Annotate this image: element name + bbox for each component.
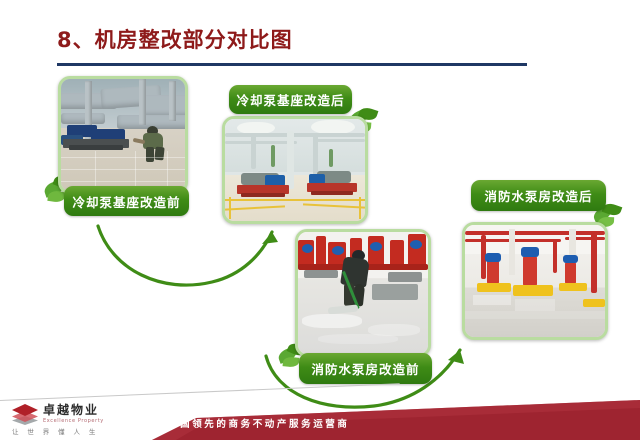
caption-after-fire-pump-room[interactable]: 消防水泵房改造后 [471,180,606,211]
photo-before-cooling-pump-base[interactable] [58,76,188,194]
photo-after-cooling-pump-base[interactable] [222,116,368,224]
page-title-text: 8、机房整改部分对比图 [57,30,293,51]
diamond-logo-icon [12,404,38,424]
photo-after-fire-pump-room[interactable] [462,222,608,340]
photo-image [61,79,185,191]
company-tagline: 让 世 界 懂 人 生 [12,426,122,436]
photo-before-fire-pump-room[interactable] [295,229,431,357]
company-name-cn: 卓越物业 [43,404,104,417]
page-title: 8、机房整改部分对比图 [57,30,293,51]
title-underline [57,63,527,66]
caption-before-cooling-pump-base[interactable]: 冷却泵基座改造前 [64,186,189,216]
photo-image [465,225,605,337]
caption-after-cooling-pump-base[interactable]: 冷却泵基座改造后 [229,85,352,114]
slide-canvas: 8、机房整改部分对比图 [0,0,640,440]
company-logo[interactable]: 卓越物业 Excellence Property 让 世 界 懂 人 生 [12,404,122,436]
photo-image [225,119,365,221]
caption-before-fire-pump-room[interactable]: 消防水泵房改造前 [299,353,432,384]
company-name-en: Excellence Property [43,418,104,424]
photo-image [298,232,428,354]
slide-footer: 中国领先的商务不动产服务运营商 卓越物业 Excellence Property… [0,394,640,440]
footer-slogan: 中国领先的商务不动产服务运营商 [168,416,350,430]
